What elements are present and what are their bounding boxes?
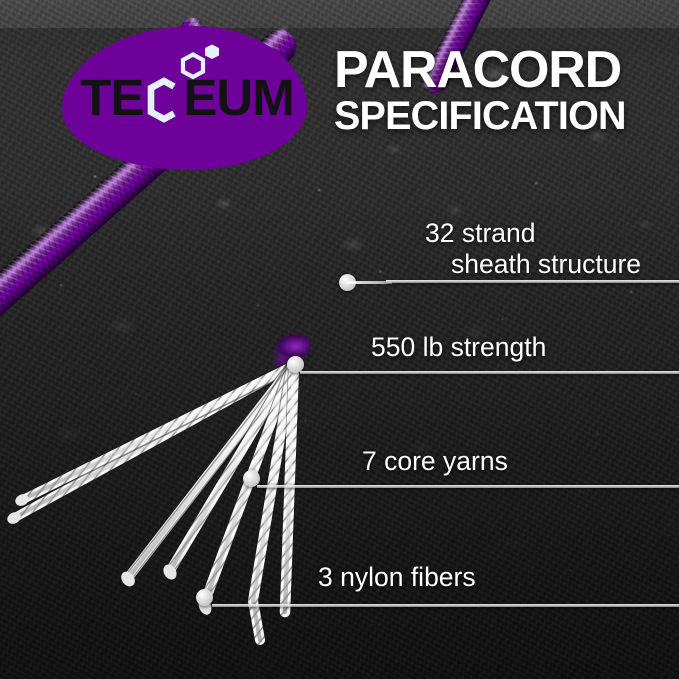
callout-dot-fibers: [196, 589, 213, 606]
callout-label-fibers: 3 nylon fibers: [318, 562, 476, 593]
callout-nylon-fibers: 3 nylon fibers: [0, 0, 679, 640]
infographic-canvas: TE EUM PARACORD SPECIFICATION 32 strands…: [0, 0, 679, 679]
callout-rule-fibers: [212, 604, 679, 607]
